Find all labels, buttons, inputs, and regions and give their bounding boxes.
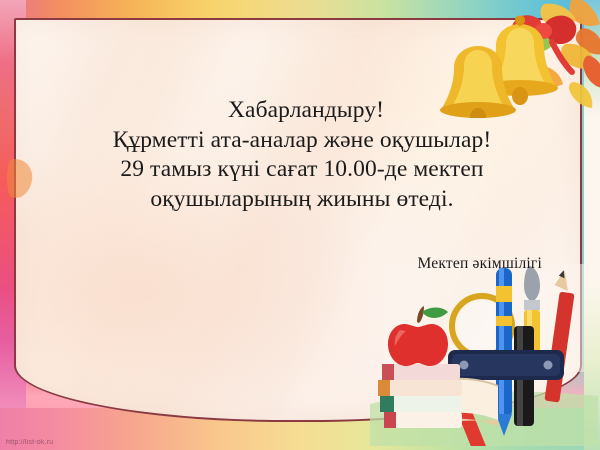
source-watermark: http://list-ok.ru bbox=[6, 439, 53, 446]
announcement-line-2: Құрметті ата-аналар және оқушылар! bbox=[48, 126, 556, 156]
poster-card bbox=[14, 18, 582, 422]
announcement-line-3: 29 тамыз күні сағат 10.00-де мектеп bbox=[48, 155, 556, 185]
announcement-text-block: Хабарландыру! Құрметті ата-аналар және о… bbox=[48, 96, 556, 214]
announcement-line-1: Хабарландыру! bbox=[48, 96, 556, 126]
card-sheen-overlay bbox=[16, 20, 580, 420]
announcement-line-4: оқушыларының жиыны өтеді. bbox=[48, 185, 556, 215]
signature-line: Мектеп әкімшілігі bbox=[418, 255, 542, 273]
poster-border-right bbox=[584, 0, 600, 450]
announcement-poster: Хабарландыру! Құрметті ата-аналар және о… bbox=[0, 0, 600, 450]
